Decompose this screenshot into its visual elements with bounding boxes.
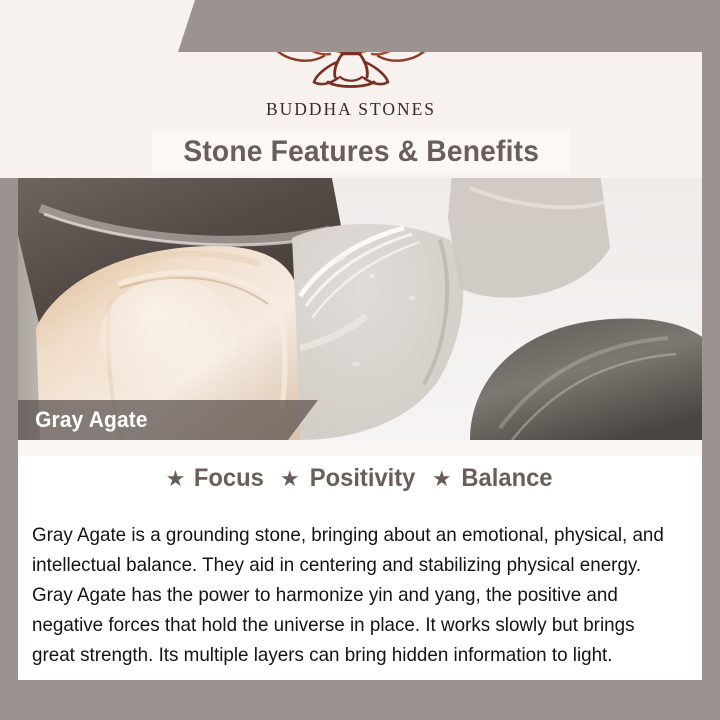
stone-name-label: Gray Agate [18, 400, 318, 440]
frame-right-edge [702, 0, 720, 720]
title-banner: Stone Features & Benefits [152, 129, 570, 175]
content-panel: ★ Focus ★ Positivity ★ Balance Gray Agat… [18, 440, 702, 680]
stone-name-text: Gray Agate [18, 407, 148, 433]
keyword-item-balance: ★ Balance [432, 464, 555, 493]
panel-top-tint [18, 440, 702, 456]
frame-bottom-edge [0, 680, 720, 720]
keyword-label: Positivity [309, 464, 415, 493]
infographic-card: BUDDHA STONES Stone Features & Benefits [0, 0, 720, 720]
star-icon: ★ [280, 468, 300, 490]
keyword-list: ★ Focus ★ Positivity ★ Balance [18, 464, 702, 493]
star-icon: ★ [166, 468, 186, 490]
brand-wordmark: BUDDHA STONES [266, 99, 436, 120]
stone-description: Gray Agate is a grounding stone, bringin… [32, 520, 669, 670]
keyword-item-positivity: ★ Positivity [280, 464, 418, 493]
page-title: Stone Features & Benefits [183, 135, 539, 169]
keyword-label: Focus [194, 464, 264, 493]
keyword-label: Balance [461, 464, 552, 493]
frame-left-edge [0, 178, 18, 720]
star-icon: ★ [432, 468, 452, 490]
keyword-item-focus: ★ Focus [166, 464, 266, 493]
